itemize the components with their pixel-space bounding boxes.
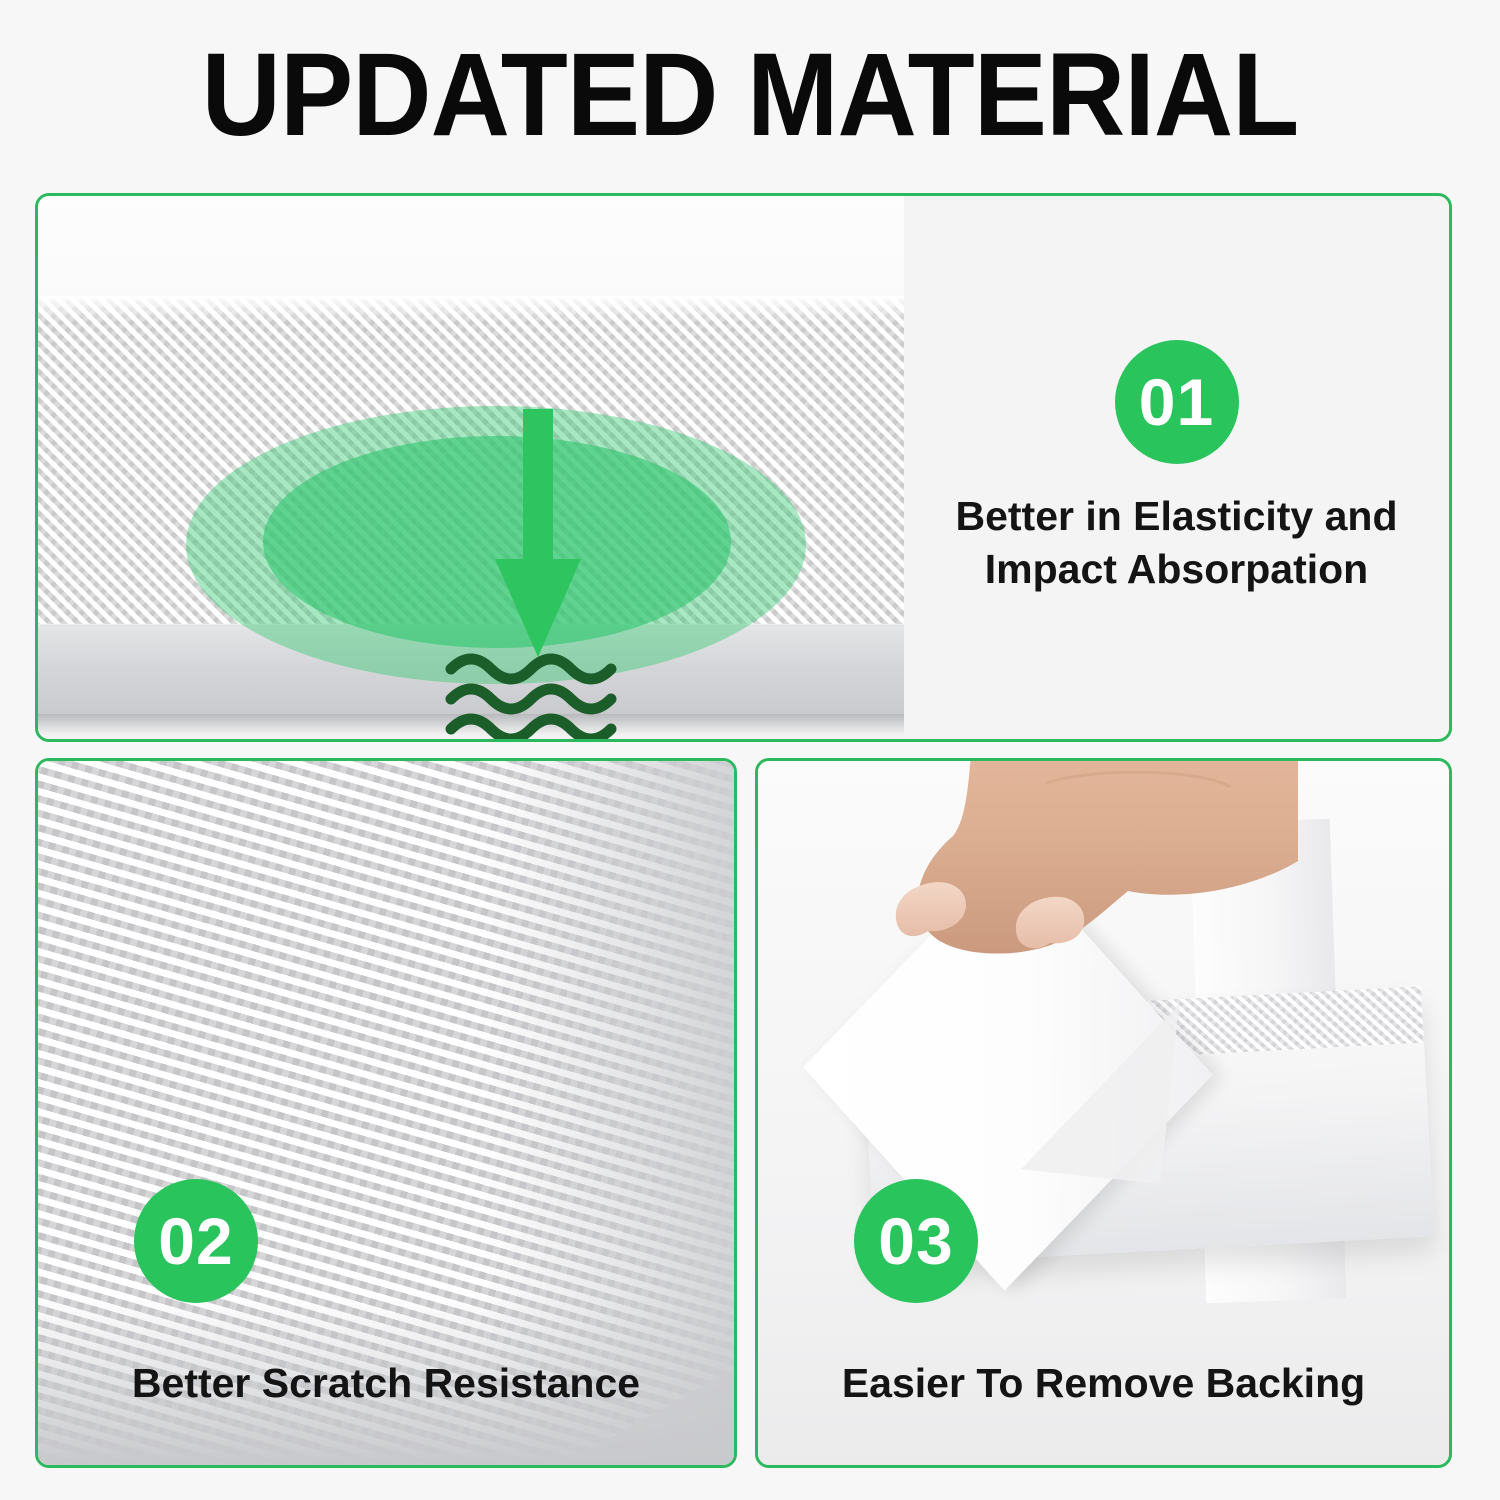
feature-01-caption-line-2: Impact Absorpation (985, 546, 1368, 592)
feature-01-caption-block: 01 Better in Elasticity and Impact Absor… (904, 196, 1449, 739)
absorption-wave-icon (443, 651, 633, 739)
badge-03: 03 (854, 1179, 978, 1303)
feature-03-caption: Easier To Remove Backing (758, 1360, 1449, 1407)
pressure-down-arrow (493, 409, 583, 659)
feature-01-caption-line-1: Better in Elasticity and (955, 493, 1397, 539)
badge-03-wrapper: 03 (854, 1179, 978, 1303)
feature-panel-01: 01 Better in Elasticity and Impact Absor… (35, 193, 1452, 742)
photo-backdrop (38, 196, 910, 311)
foam-compression-illustration (38, 196, 910, 739)
feature-panel-02: 02 Better Scratch Resistance (35, 758, 737, 1468)
badge-01: 01 (1115, 340, 1239, 464)
badge-02: 02 (134, 1179, 258, 1303)
badge-02-wrapper: 02 (134, 1179, 258, 1303)
feature-01-caption: Better in Elasticity and Impact Absorpat… (955, 490, 1397, 595)
page-title: UPDATED MATERIAL (53, 36, 1448, 154)
feature-02-caption: Better Scratch Resistance (38, 1360, 734, 1407)
hand-icon (778, 761, 1298, 1071)
feature-panel-03: 03 Easier To Remove Backing (755, 758, 1452, 1468)
